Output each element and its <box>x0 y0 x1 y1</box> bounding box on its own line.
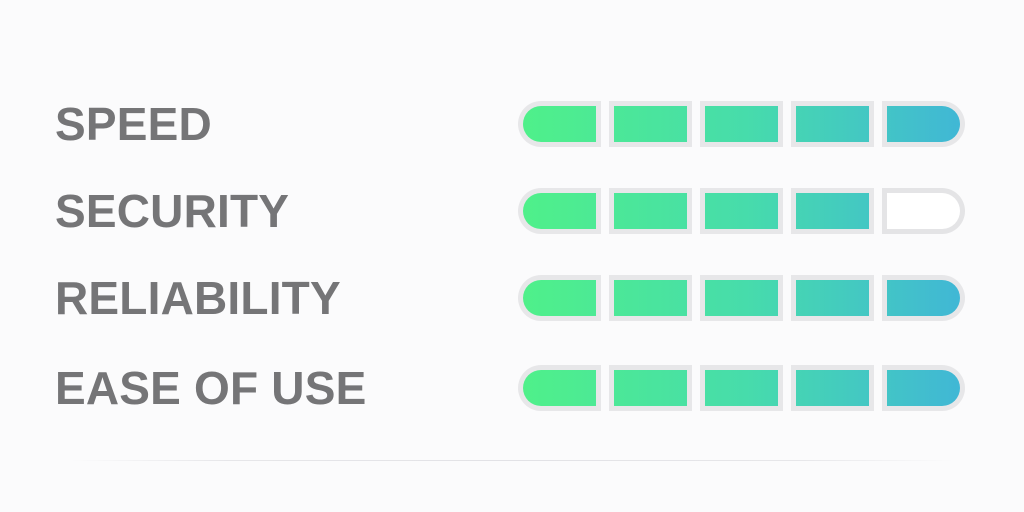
rating-segment[interactable] <box>787 183 878 239</box>
rating-segment-frame <box>791 101 874 147</box>
rating-segment[interactable] <box>696 96 787 152</box>
rating-segment-fill <box>523 370 596 406</box>
rating-segment-fill <box>614 106 687 142</box>
rating-segment-frame <box>518 101 601 147</box>
rating-segment-fill <box>705 106 778 142</box>
rating-segment-frame <box>791 188 874 234</box>
rating-segment-fill <box>614 193 687 229</box>
rating-segment-fill <box>523 193 596 229</box>
rating-segment-fill <box>887 370 960 406</box>
rating-segment-fill <box>887 280 960 316</box>
rating-segment-frame <box>609 365 692 411</box>
rating-segment[interactable] <box>787 96 878 152</box>
rating-panel: SPEED SECURITY RELIABILITY EASE <box>0 0 1024 512</box>
rating-segment-frame <box>609 188 692 234</box>
rating-segment-frame <box>609 275 692 321</box>
rating-segment-frame <box>700 275 783 321</box>
rating-segment-frame <box>791 365 874 411</box>
rating-row-label: SPEED <box>55 101 212 147</box>
rating-segment-empty[interactable] <box>878 183 965 239</box>
rating-row: EASE OF USE <box>0 357 1024 419</box>
rating-segment[interactable] <box>518 270 605 326</box>
rating-segment[interactable] <box>696 360 787 416</box>
rating-segment[interactable] <box>518 360 605 416</box>
rating-track[interactable] <box>518 270 965 326</box>
rating-segment[interactable] <box>605 270 696 326</box>
rating-segment-frame <box>700 188 783 234</box>
rating-segment[interactable] <box>878 96 965 152</box>
rating-segment-fill <box>887 193 960 229</box>
rating-segment[interactable] <box>696 270 787 326</box>
rating-row: SPEED <box>0 93 1024 155</box>
rating-segment-fill <box>796 106 869 142</box>
rating-segment-frame <box>882 188 965 234</box>
rating-segment-frame <box>609 101 692 147</box>
rating-segment-fill <box>614 280 687 316</box>
rating-row: SECURITY <box>0 180 1024 242</box>
rating-segment-frame <box>518 188 601 234</box>
rating-track[interactable] <box>518 96 965 152</box>
rating-segment-fill <box>705 370 778 406</box>
rating-segment[interactable] <box>878 360 965 416</box>
rating-segment-fill <box>705 280 778 316</box>
rating-segment[interactable] <box>605 96 696 152</box>
rating-row-label: EASE OF USE <box>55 365 367 411</box>
rating-row-label: SECURITY <box>55 188 289 234</box>
rating-segment-fill <box>705 193 778 229</box>
rating-segment-frame <box>518 275 601 321</box>
rating-segment-fill <box>796 280 869 316</box>
rating-segment-frame <box>700 365 783 411</box>
rating-segment-fill <box>523 280 596 316</box>
rating-segment[interactable] <box>518 96 605 152</box>
rating-track[interactable] <box>518 360 965 416</box>
rating-segment-fill <box>523 106 596 142</box>
rating-segment[interactable] <box>787 360 878 416</box>
rating-segment[interactable] <box>605 360 696 416</box>
rating-row: RELIABILITY <box>0 267 1024 329</box>
rating-segment[interactable] <box>878 270 965 326</box>
rating-row-label: RELIABILITY <box>55 275 341 321</box>
rating-segment-frame <box>791 275 874 321</box>
rating-segment-frame <box>518 365 601 411</box>
rating-segment[interactable] <box>605 183 696 239</box>
rating-segment[interactable] <box>696 183 787 239</box>
rating-segment-fill <box>887 106 960 142</box>
rating-segment[interactable] <box>787 270 878 326</box>
rating-segment-fill <box>796 193 869 229</box>
rating-segment-frame <box>882 275 965 321</box>
footer-divider <box>70 460 954 461</box>
rating-segment-frame <box>700 101 783 147</box>
rating-segment-frame <box>882 365 965 411</box>
rating-segment-fill <box>614 370 687 406</box>
rating-track[interactable] <box>518 183 965 239</box>
rating-segment-frame <box>882 101 965 147</box>
rating-segment[interactable] <box>518 183 605 239</box>
rating-segment-fill <box>796 370 869 406</box>
